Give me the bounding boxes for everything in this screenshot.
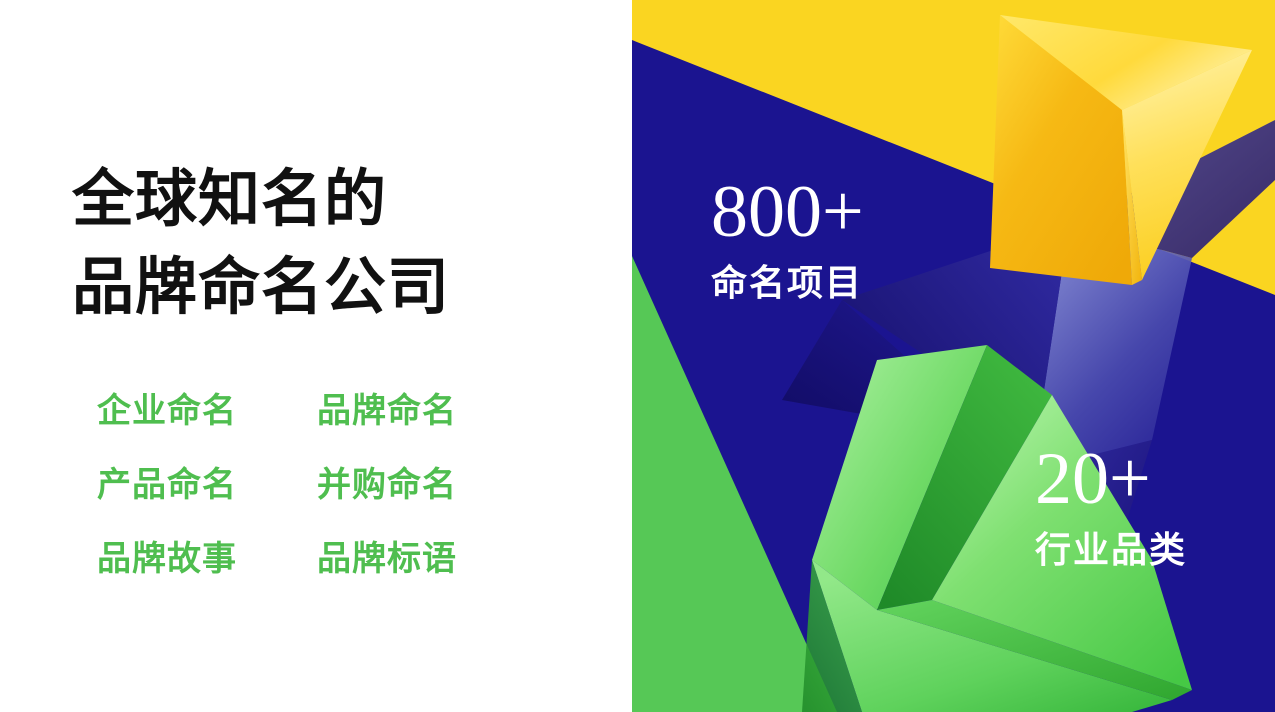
stat-number-projects: 800+: [711, 173, 864, 251]
service-item-product-naming[interactable]: 产品命名: [97, 466, 317, 504]
headline-line-1: 全球知名的: [72, 156, 450, 244]
service-item-brand-slogan[interactable]: 品牌标语: [317, 540, 457, 578]
service-item-corporate-naming[interactable]: 企业命名: [97, 392, 317, 430]
headline-line-2: 品牌命名公司: [72, 244, 450, 332]
left-text-panel: 全球知名的 品牌命名公司 企业命名 品牌命名 产品命名 并购命名 品牌故事 品牌…: [0, 0, 632, 712]
brand-naming-banner: 全球知名的 品牌命名公司 企业命名 品牌命名 产品命名 并购命名 品牌故事 品牌…: [0, 0, 1275, 712]
stat-number-industries: 20+: [1035, 440, 1187, 518]
stat-label-industries: 行业品类: [1035, 530, 1187, 570]
abstract-geometric-artwork: [632, 0, 1275, 712]
stat-label-projects: 命名项目: [711, 263, 864, 303]
service-list: 企业命名 品牌命名 产品命名 并购命名 品牌故事 品牌标语: [97, 392, 457, 578]
page-title: 全球知名的 品牌命名公司: [72, 156, 450, 332]
stat-naming-projects: 800+ 命名项目: [711, 173, 864, 303]
service-item-brand-naming[interactable]: 品牌命名: [317, 392, 457, 430]
service-item-ma-naming[interactable]: 并购命名: [317, 466, 457, 504]
stat-industry-categories: 20+ 行业品类: [1035, 440, 1187, 570]
service-item-brand-story[interactable]: 品牌故事: [97, 540, 317, 578]
right-graphic-panel: [632, 0, 1275, 712]
